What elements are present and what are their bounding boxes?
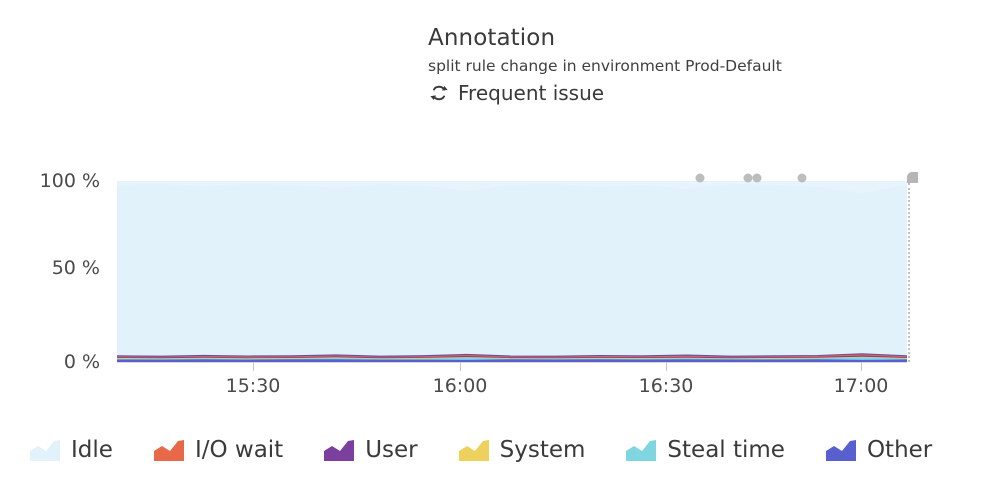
annotation-edge-marker[interactable] (907, 181, 918, 362)
legend-item-io-wait[interactable]: I/O wait (154, 437, 283, 463)
annotation-marker-dot[interactable] (696, 174, 705, 183)
annotation-marker-dot[interactable] (744, 174, 753, 183)
annotation-marker-dot[interactable] (798, 174, 807, 183)
legend-item-idle[interactable]: Idle (30, 437, 113, 463)
annotation-edge-marker-line (908, 183, 910, 362)
annotation-header: Annotation split rule change in environm… (428, 24, 988, 106)
repeat-icon (428, 82, 450, 104)
legend-label: System (500, 437, 586, 463)
x-axis-tick-label: 15:30 (226, 375, 281, 397)
legend-item-user[interactable]: User (324, 437, 417, 463)
x-axis-line (117, 362, 907, 363)
x-axis-tick-label: 17:00 (834, 375, 889, 397)
x-axis-tick-label: 16:30 (639, 375, 694, 397)
y-axis-tick-label: 0 % (0, 351, 100, 373)
area-chart-icon (826, 439, 856, 461)
chart-legend: Idle I/O wait User System Steal time Oth… (0, 420, 1008, 480)
x-axis-tick (861, 362, 862, 371)
y-axis-tick-label: 50 % (0, 257, 100, 279)
series-area-idle (117, 184, 907, 362)
legend-label: I/O wait (195, 437, 283, 463)
annotation-edge-marker-cap (907, 172, 918, 183)
x-axis-tick (253, 362, 254, 371)
annotation-title: Annotation (428, 24, 988, 52)
legend-item-steal-time[interactable]: Steal time (626, 437, 785, 463)
x-axis-tick-label: 16:00 (433, 375, 488, 397)
legend-label: Idle (71, 437, 113, 463)
legend-label: User (365, 437, 417, 463)
annotation-marker-dot[interactable] (753, 174, 762, 183)
cpu-usage-chart: 100 % 50 % 0 % 15:30 16:00 16:30 17:00 (0, 150, 1008, 400)
x-axis-tick (460, 362, 461, 371)
annotation-tagline: Frequent issue (428, 80, 988, 106)
y-axis-tick-label: 100 % (0, 170, 100, 192)
legend-label: Steal time (667, 437, 785, 463)
legend-item-system[interactable]: System (459, 437, 586, 463)
annotation-tagline-label: Frequent issue (458, 80, 604, 106)
area-chart-icon (626, 439, 656, 461)
area-chart-icon (459, 439, 489, 461)
annotation-subtitle: split rule change in environment Prod-De… (428, 55, 988, 77)
x-axis-tick (666, 362, 667, 371)
legend-item-other[interactable]: Other (826, 437, 932, 463)
area-chart-icon (30, 439, 60, 461)
stacked-area-series (117, 181, 907, 362)
plot-area[interactable] (117, 181, 907, 362)
area-chart-icon (154, 439, 184, 461)
legend-label: Other (867, 437, 932, 463)
area-chart-icon (324, 439, 354, 461)
